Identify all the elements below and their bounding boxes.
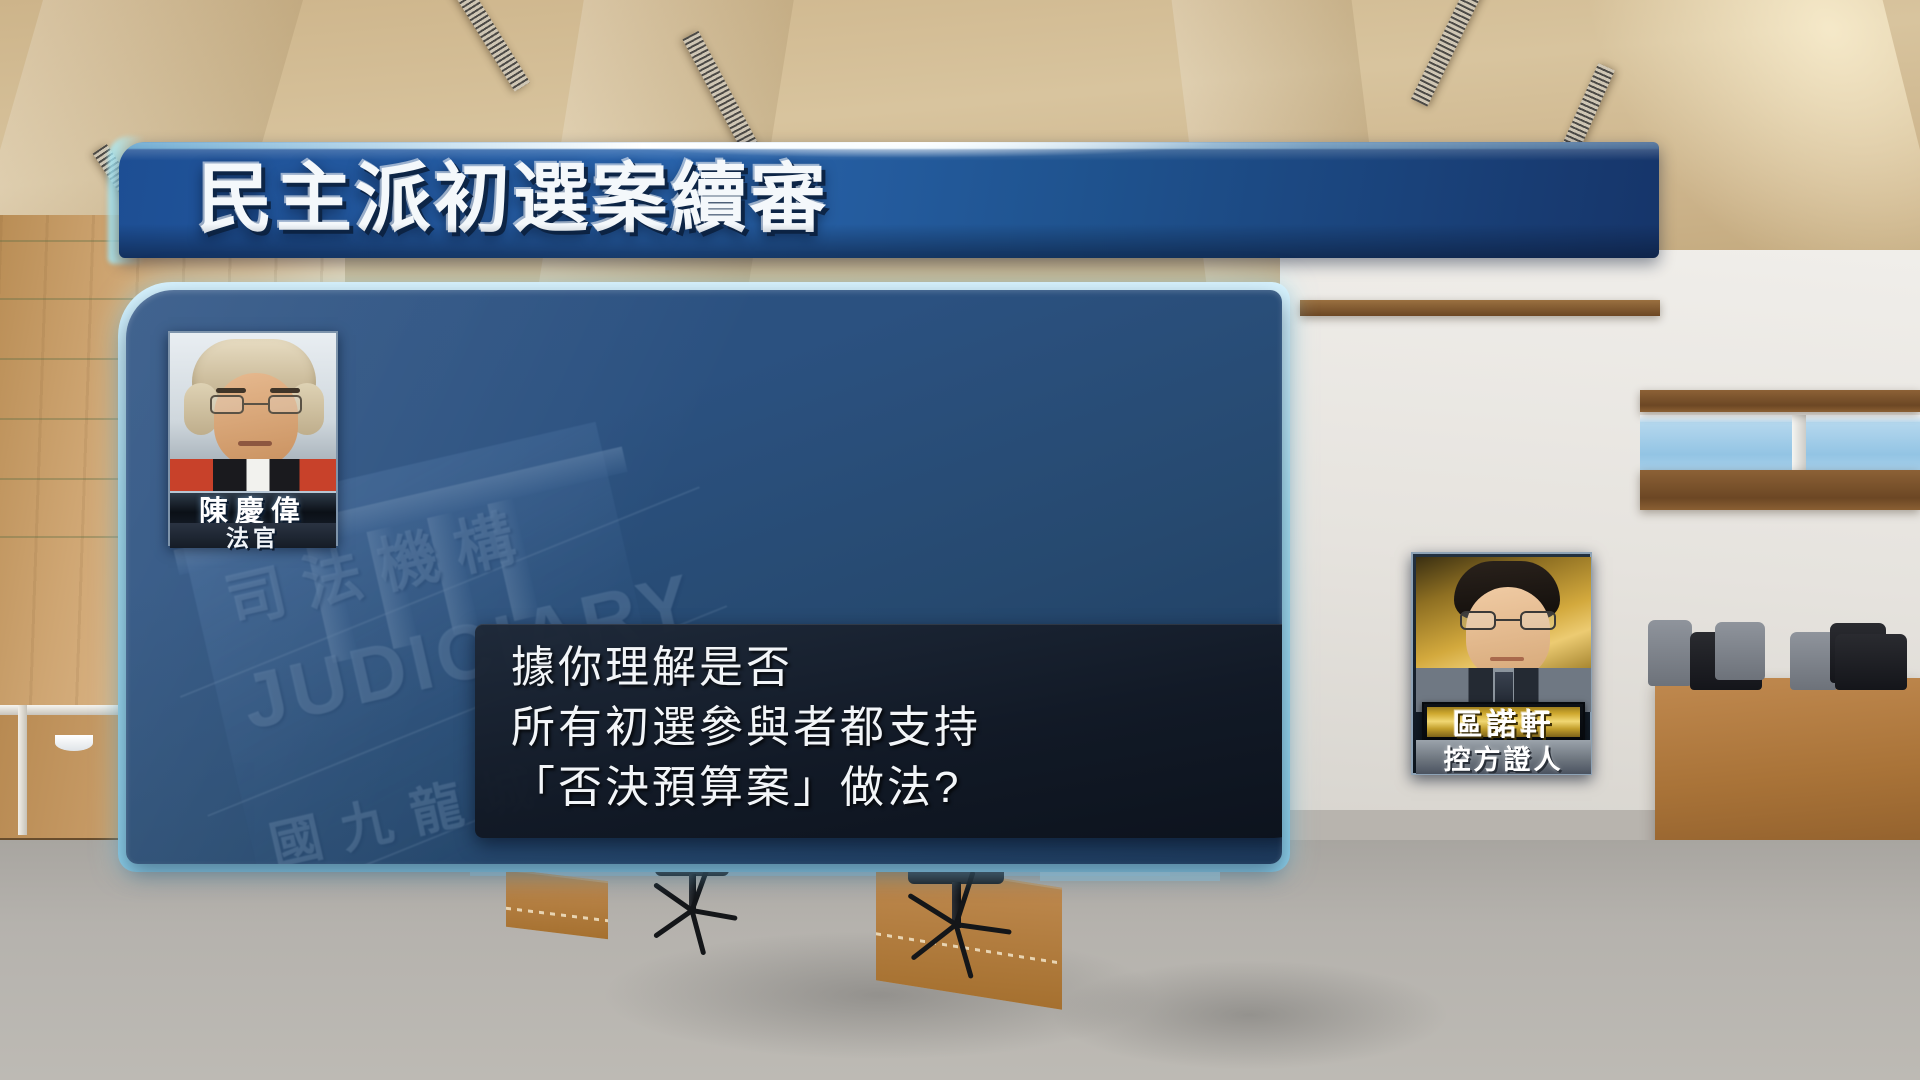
office-chair <box>908 866 1004 954</box>
judge-role-bar: 法官 <box>170 523 336 548</box>
wall-beam <box>1640 470 1920 510</box>
judge-quote-text: 據你理解是否 所有初選參與者都支持 「否決預算案」做法? <box>511 638 1282 818</box>
witness-name: 區諾軒 <box>1453 700 1555 744</box>
witness-portrait <box>1416 557 1591 712</box>
office-chair <box>655 862 729 934</box>
railing-post <box>18 705 27 835</box>
glasses-icon <box>1460 611 1556 631</box>
judge-speech-bubble: 據你理解是否 所有初選參與者都支持 「否決預算案」做法? <box>475 624 1282 838</box>
courtroom-bench-right <box>1655 678 1920 858</box>
bench-chair <box>1648 620 1692 686</box>
floor-shadow <box>1050 960 1450 1070</box>
judge-id-card: 陳慶偉 法官 <box>168 331 338 546</box>
judge-portrait <box>170 333 336 493</box>
witness-face <box>1466 587 1550 679</box>
ceiling-beam <box>1640 390 1920 412</box>
witness-mouth <box>1490 657 1524 661</box>
witness-nameplate: 區諾軒 <box>1422 702 1585 742</box>
judge-role: 法官 <box>226 519 280 553</box>
judge-brow <box>270 388 300 393</box>
bench-chair <box>1715 622 1765 680</box>
judge-mouth <box>238 441 272 446</box>
judge-brow <box>216 388 246 393</box>
witness-id-card: 區諾軒 控方證人 <box>1411 552 1592 775</box>
courtroom-desk <box>506 869 608 940</box>
headline-bar: 民主派初選案續審 <box>119 142 1659 258</box>
wall-lamp <box>55 735 93 751</box>
wall-trim <box>1300 300 1660 316</box>
glasses-icon <box>210 395 302 415</box>
page-title: 民主派初選案續審 <box>197 154 829 246</box>
bench-chair <box>1835 634 1907 690</box>
witness-role-bar: 控方證人 <box>1416 740 1591 774</box>
